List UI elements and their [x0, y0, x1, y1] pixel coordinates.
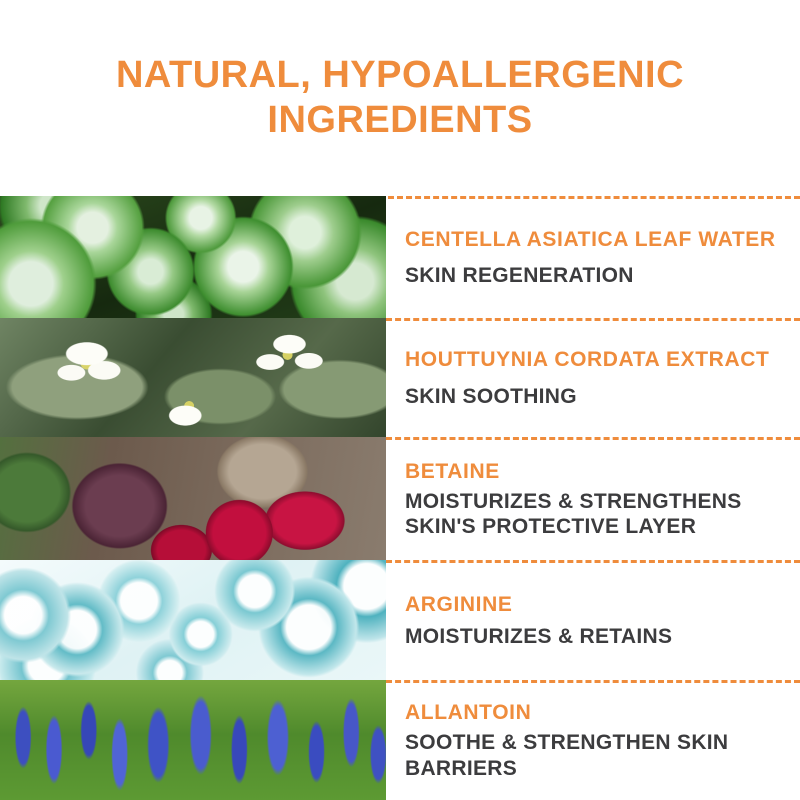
ingredient-row-arginine: ARGININE MOISTURIZES & RETAINS — [0, 560, 800, 680]
page-title: NATURAL, HYPOALLERGENIC INGREDIENTS — [70, 53, 730, 143]
ingredient-row-allantoin: ALLANTOIN SOOTHE & STRENGTHEN SKIN BARRI… — [0, 680, 800, 800]
ingredient-name: BETAINE — [405, 460, 780, 484]
water-bubbles-icon — [0, 560, 386, 680]
ingredient-benefit: MOISTURIZES & STRENGTHENS SKIN'S PROTECT… — [405, 489, 780, 539]
centella-leaves-icon — [0, 196, 386, 318]
ingredients-poster: NATURAL, HYPOALLERGENIC INGREDIENTS CENT… — [0, 0, 800, 800]
ingredient-list: CENTELLA ASIATICA LEAF WATER SKIN REGENE… — [0, 196, 800, 800]
houttuynia-flowers-icon — [0, 318, 386, 437]
ingredient-benefit: SKIN SOOTHING — [405, 384, 780, 409]
ingredient-name: ALLANTOIN — [405, 701, 780, 725]
dashed-divider — [386, 318, 800, 321]
ingredient-image-arginine — [0, 560, 386, 680]
ingredient-name: CENTELLA ASIATICA LEAF WATER — [405, 228, 780, 252]
ingredient-image-betaine — [0, 437, 386, 560]
dashed-divider — [386, 560, 800, 563]
ingredient-name: HOUTTUYNIA CORDATA EXTRACT — [405, 348, 780, 372]
ingredient-text-allantoin: ALLANTOIN SOOTHE & STRENGTHEN SKIN BARRI… — [386, 680, 800, 800]
ingredient-row-centella: CENTELLA ASIATICA LEAF WATER SKIN REGENE… — [0, 196, 800, 318]
ingredient-benefit: SOOTHE & STRENGTHEN SKIN BARRIERS — [405, 730, 780, 780]
ingredient-row-betaine: BETAINE MOISTURIZES & STRENGTHENS SKIN'S… — [0, 437, 800, 560]
ingredient-image-centella — [0, 196, 386, 318]
ingredient-image-allantoin — [0, 680, 386, 800]
ingredient-text-betaine: BETAINE MOISTURIZES & STRENGTHENS SKIN'S… — [386, 437, 800, 560]
beetroot-icon — [0, 437, 386, 560]
dashed-divider — [386, 680, 800, 683]
ingredient-benefit: MOISTURIZES & RETAINS — [405, 624, 780, 649]
dashed-divider — [386, 437, 800, 440]
ingredient-name: ARGININE — [405, 593, 780, 617]
poster-header: NATURAL, HYPOALLERGENIC INGREDIENTS — [0, 0, 800, 196]
ingredient-benefit: SKIN REGENERATION — [405, 263, 780, 288]
ingredient-text-houttuynia: HOUTTUYNIA CORDATA EXTRACT SKIN SOOTHING — [386, 318, 800, 437]
hyssop-flowers-icon — [0, 680, 386, 800]
ingredient-image-houttuynia — [0, 318, 386, 437]
ingredient-text-centella: CENTELLA ASIATICA LEAF WATER SKIN REGENE… — [386, 196, 800, 318]
ingredient-text-arginine: ARGININE MOISTURIZES & RETAINS — [386, 560, 800, 680]
ingredient-row-houttuynia: HOUTTUYNIA CORDATA EXTRACT SKIN SOOTHING — [0, 318, 800, 437]
